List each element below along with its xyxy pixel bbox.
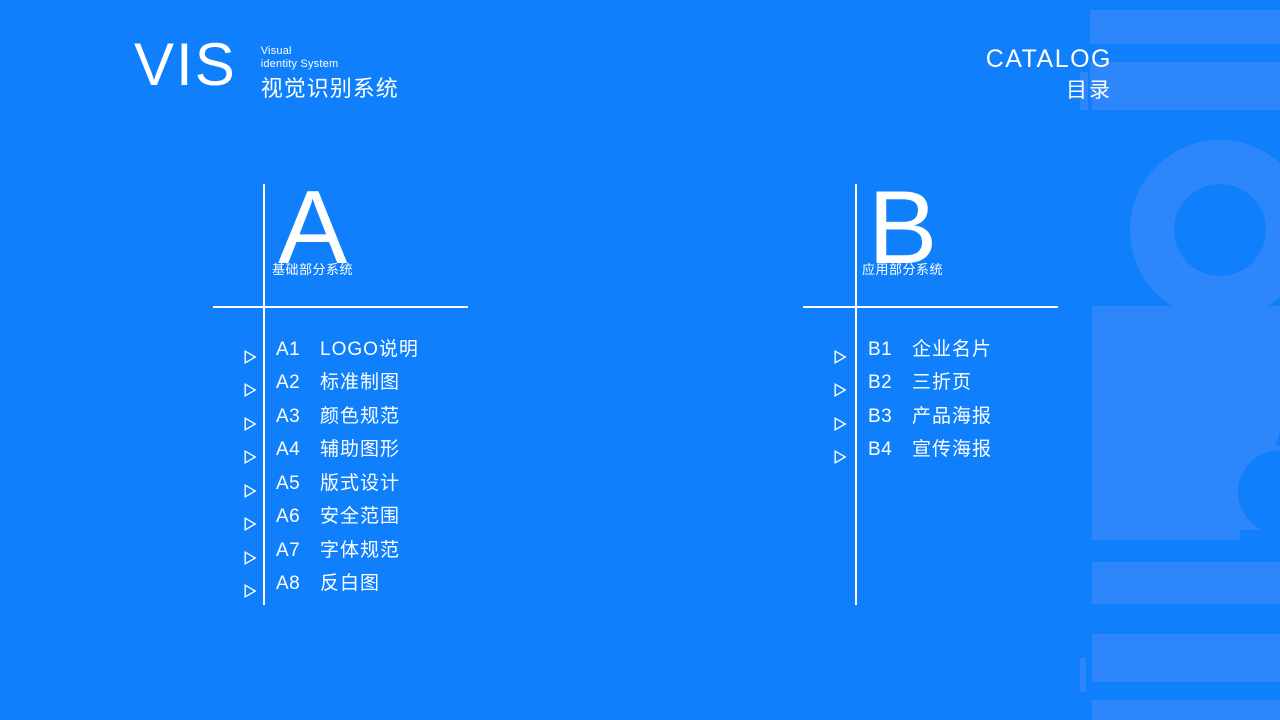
catalog-item-b3[interactable]: B3产品海报 [790, 400, 1280, 434]
catalog-item-b1[interactable]: B1企业名片 [790, 333, 1280, 367]
catalog-item-a1[interactable]: A1LOGO说明 [200, 333, 720, 367]
catalog-item-a2[interactable]: A2标准制图 [200, 367, 720, 401]
section-b-horizontal-rule [803, 306, 1058, 308]
catalog-item-code: A7 [276, 540, 300, 562]
catalog-item-a7[interactable]: A7字体规范 [200, 534, 720, 568]
catalog-item-code: A8 [276, 573, 300, 595]
catalog-item-code: A5 [276, 473, 300, 495]
catalog-item-label: 安全范围 [320, 506, 400, 528]
section-a: A 基础部分系统 A1LOGO说明A2标准制图A3颜色规范A4辅助图形A5版式设… [200, 0, 720, 720]
catalog-item-code: A6 [276, 506, 300, 528]
catalog-item-label: 标准制图 [320, 372, 400, 394]
section-b: B 应用部分系统 B1企业名片B2三折页B3产品海报B4宣传海报 [790, 0, 1280, 720]
vis-catalog-page: VIS Visual identity System 视觉识别系统 CATALO… [0, 0, 1280, 720]
catalog-item-code: A4 [276, 439, 300, 461]
catalog-item-label: 三折页 [912, 372, 972, 394]
catalog-item-a5[interactable]: A5版式设计 [200, 467, 720, 501]
catalog-item-a4[interactable]: A4辅助图形 [200, 434, 720, 468]
catalog-item-label: 企业名片 [912, 339, 992, 361]
catalog-item-a6[interactable]: A6安全范围 [200, 501, 720, 535]
catalog-item-label: 宣传海报 [912, 439, 992, 461]
section-b-item-list: B1企业名片B2三折页B3产品海报B4宣传海报 [790, 333, 1280, 467]
section-b-subtitle: 应用部分系统 [862, 261, 943, 279]
catalog-item-code: A3 [276, 406, 300, 428]
catalog-item-label: 产品海报 [912, 406, 992, 428]
catalog-item-label: 字体规范 [320, 540, 400, 562]
catalog-item-label: 颜色规范 [320, 406, 400, 428]
catalog-item-label: 辅助图形 [320, 439, 400, 461]
section-a-item-list: A1LOGO说明A2标准制图A3颜色规范A4辅助图形A5版式设计A6安全范围A7… [200, 333, 720, 601]
section-a-subtitle: 基础部分系统 [272, 261, 353, 279]
catalog-item-b2[interactable]: B2三折页 [790, 367, 1280, 401]
catalog-item-b4[interactable]: B4宣传海报 [790, 434, 1280, 468]
section-a-horizontal-rule [213, 306, 468, 308]
catalog-item-label: 反白图 [320, 573, 380, 595]
catalog-item-code: B3 [868, 406, 892, 428]
catalog-item-code: B4 [868, 439, 892, 461]
catalog-item-label: LOGO说明 [320, 339, 419, 361]
catalog-item-code: B1 [868, 339, 892, 361]
catalog-item-code: A2 [276, 372, 300, 394]
catalog-item-a3[interactable]: A3颜色规范 [200, 400, 720, 434]
catalog-item-label: 版式设计 [320, 473, 400, 495]
catalog-item-a8[interactable]: A8反白图 [200, 568, 720, 602]
catalog-item-code: B2 [868, 372, 892, 394]
catalog-item-code: A1 [276, 339, 300, 361]
